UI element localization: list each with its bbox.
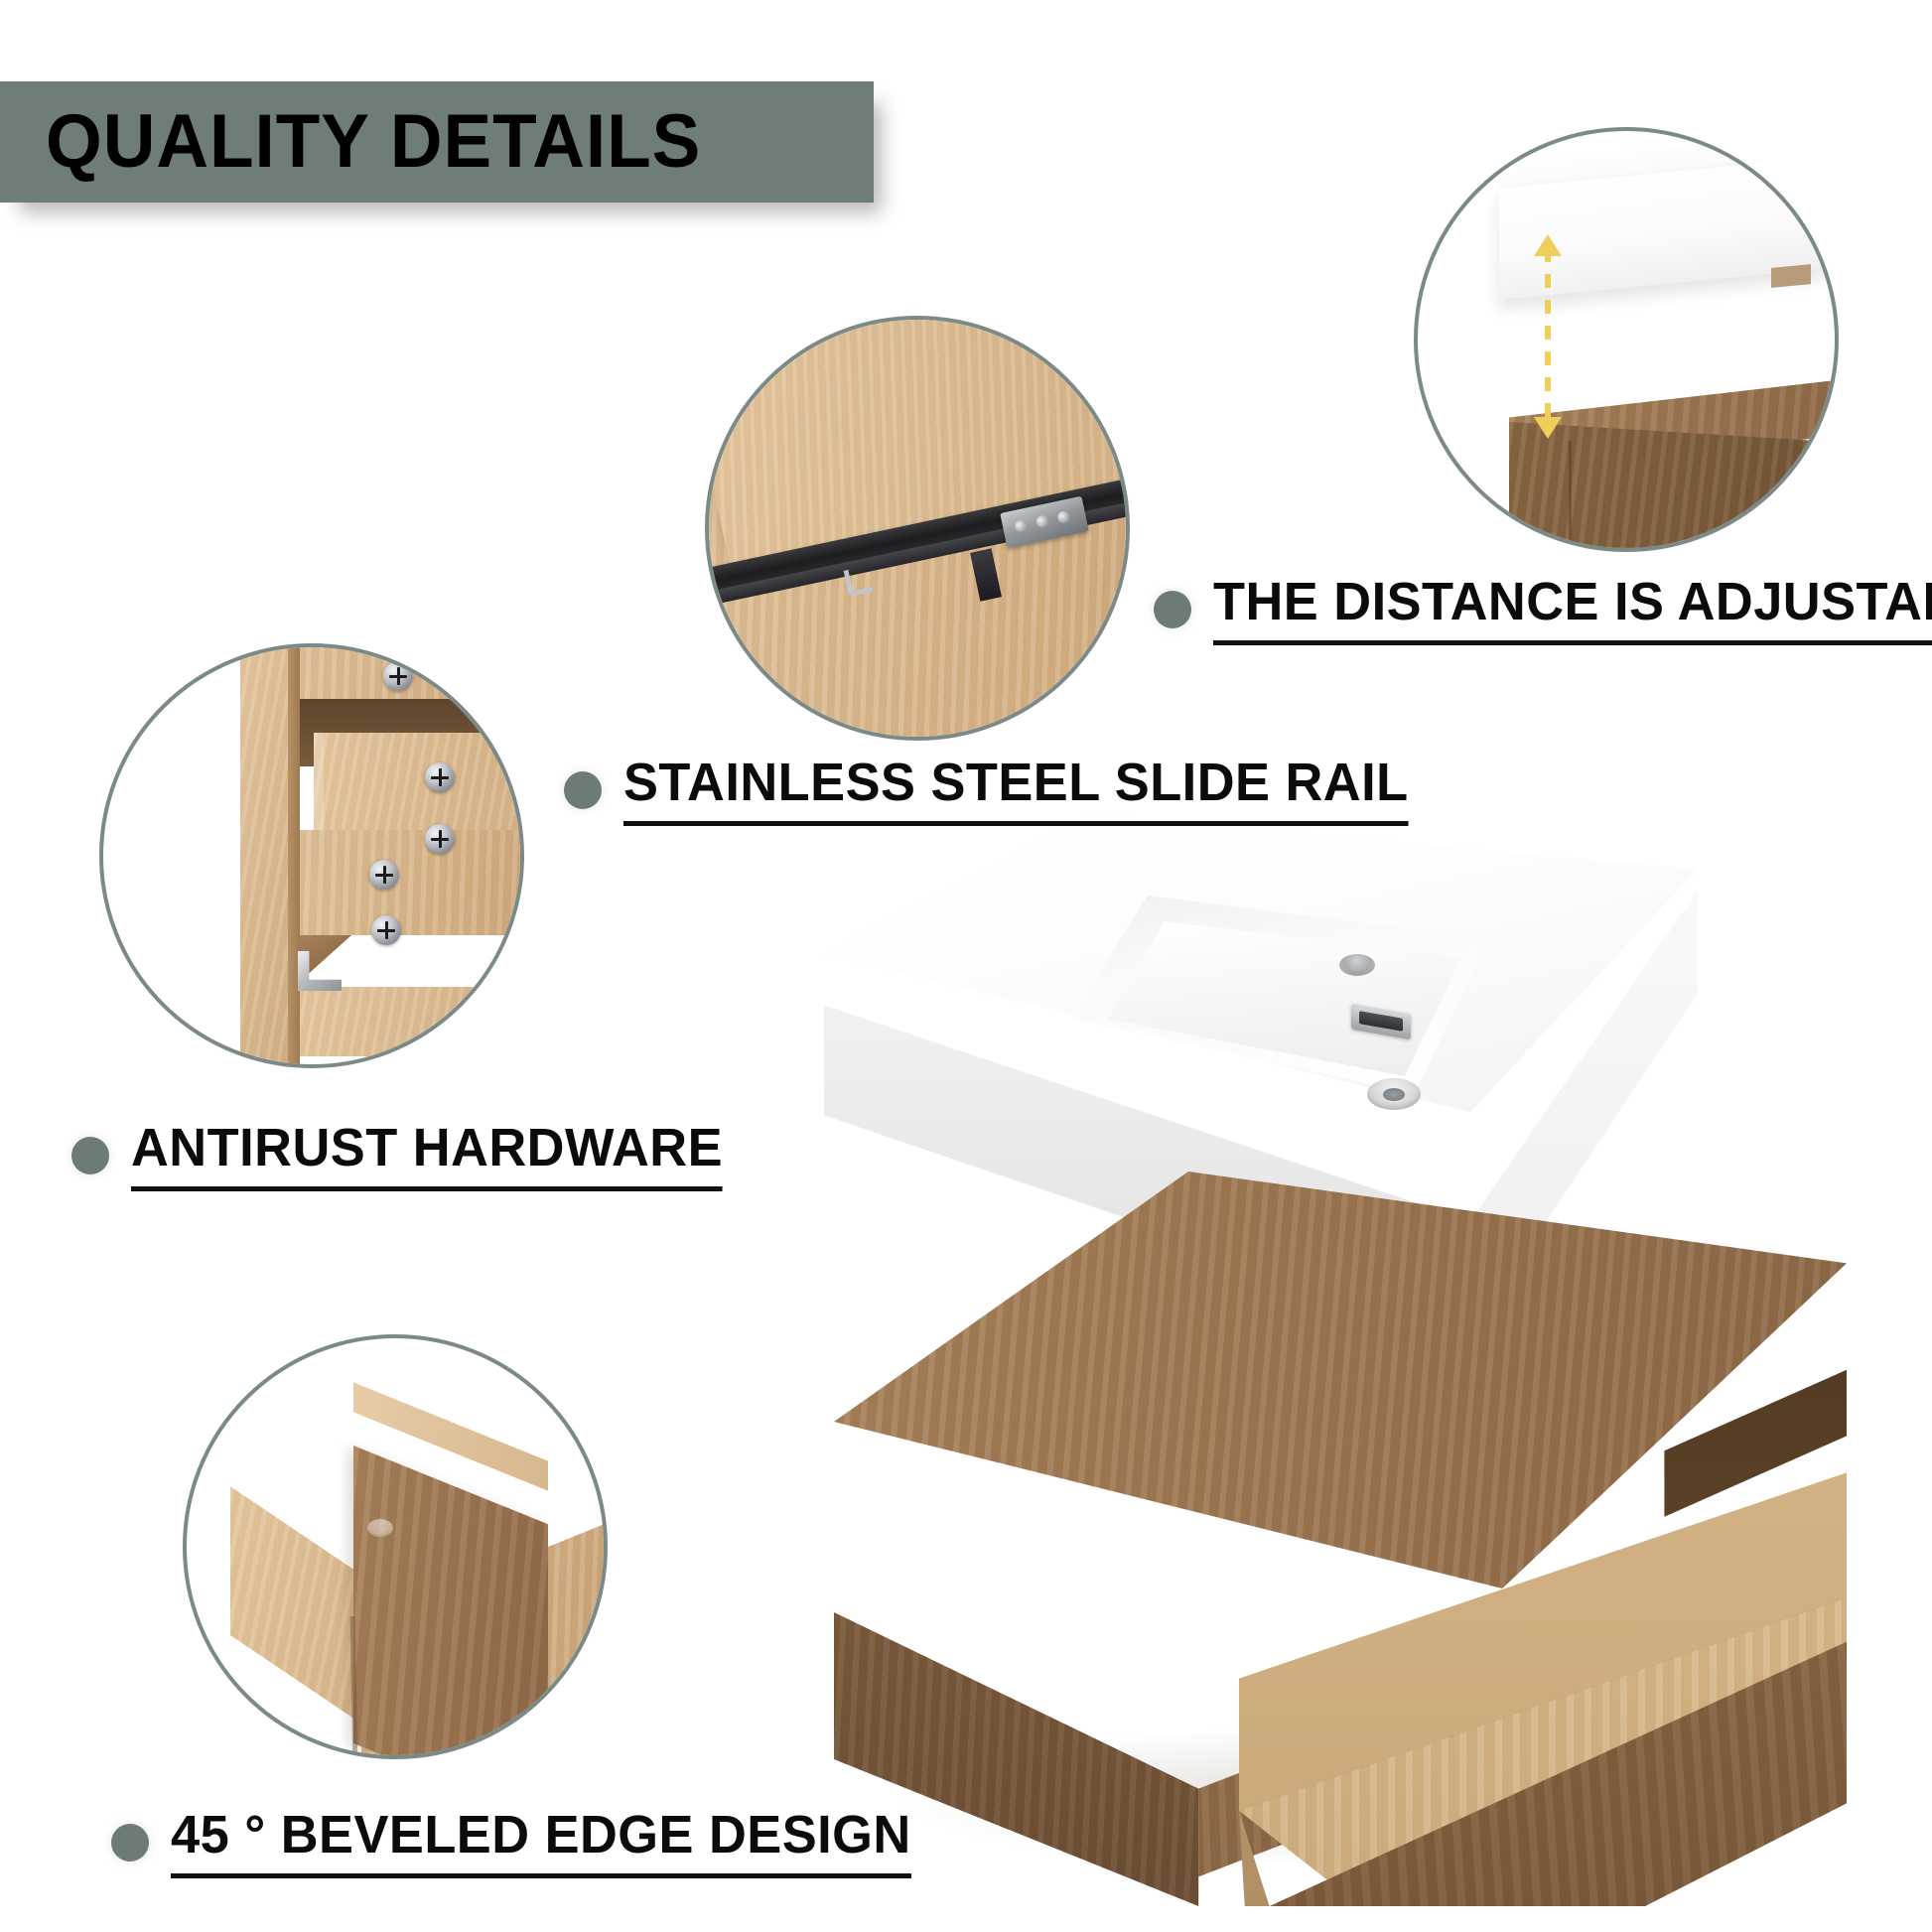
cabinet-side-stile xyxy=(240,643,294,1068)
caption-label: THE DISTANCE IS ADJUSTABLE xyxy=(1213,574,1932,645)
antirust-hardware-photo xyxy=(99,643,524,1068)
screw-icon xyxy=(383,661,413,691)
arrow-down-icon xyxy=(1534,417,1562,439)
screw-icon xyxy=(425,762,455,792)
vessel-sink xyxy=(824,814,1698,1221)
vanity-cabinet xyxy=(834,1172,1847,1906)
beveled-edge-scene xyxy=(187,1338,604,1755)
caption-distance-adjustable: THE DISTANCE IS ADJUSTABLE xyxy=(1154,574,1932,645)
slide-rail-hook-icon xyxy=(843,566,873,598)
caption-slide-rail: STAINLESS STEEL SLIDE RAIL xyxy=(564,755,1433,826)
screw-icon xyxy=(425,824,455,854)
bullet-dot-icon xyxy=(71,1137,109,1174)
cabinet-panel-seam xyxy=(1569,441,1572,552)
cabinet-stile-edge xyxy=(288,643,300,1068)
antirust-hardware-scene xyxy=(103,647,520,1064)
bullet-dot-icon xyxy=(1154,591,1191,628)
cabinet-front-face xyxy=(1509,422,1839,552)
caption-label: STAINLESS STEEL SLIDE RAIL xyxy=(623,755,1409,826)
adjustable-distance-photo xyxy=(1414,127,1839,552)
bevel-panel-vertical xyxy=(353,1446,548,1759)
drain-icon xyxy=(1367,1078,1421,1110)
faucet-hole-icon xyxy=(1339,954,1375,976)
distance-dashed-line-icon xyxy=(1545,248,1551,433)
cabinet-bottom-rail xyxy=(294,987,524,1056)
drawer-panel xyxy=(314,733,524,830)
slide-rail-photo xyxy=(705,316,1130,741)
infographic-canvas: QUALITY DETAILS xyxy=(0,0,1932,1932)
sink-bracket xyxy=(1771,264,1811,288)
arrow-up-icon xyxy=(1534,234,1562,256)
cabinet-mid-rail xyxy=(294,830,524,935)
caption-label: 45 ° BEVELED EDGE DESIGN xyxy=(171,1807,911,1878)
page-title: QUALITY DETAILS xyxy=(46,104,701,180)
screw-icon xyxy=(369,860,399,890)
caption-beveled-edge: 45 ° BEVELED EDGE DESIGN xyxy=(111,1807,934,1878)
dowel-hole-icon xyxy=(367,1519,393,1537)
header-banner: QUALITY DETAILS xyxy=(0,81,874,203)
adjustable-distance-scene xyxy=(1418,131,1835,548)
caption-label: ANTIRUST HARDWARE xyxy=(131,1120,723,1191)
caption-antirust-hardware: ANTIRUST HARDWARE xyxy=(71,1120,741,1191)
beveled-edge-photo xyxy=(183,1334,608,1759)
bullet-dot-icon xyxy=(111,1824,149,1862)
slide-rail-scene xyxy=(709,320,1126,737)
screw-icon xyxy=(371,915,401,945)
bullet-dot-icon xyxy=(564,771,602,809)
